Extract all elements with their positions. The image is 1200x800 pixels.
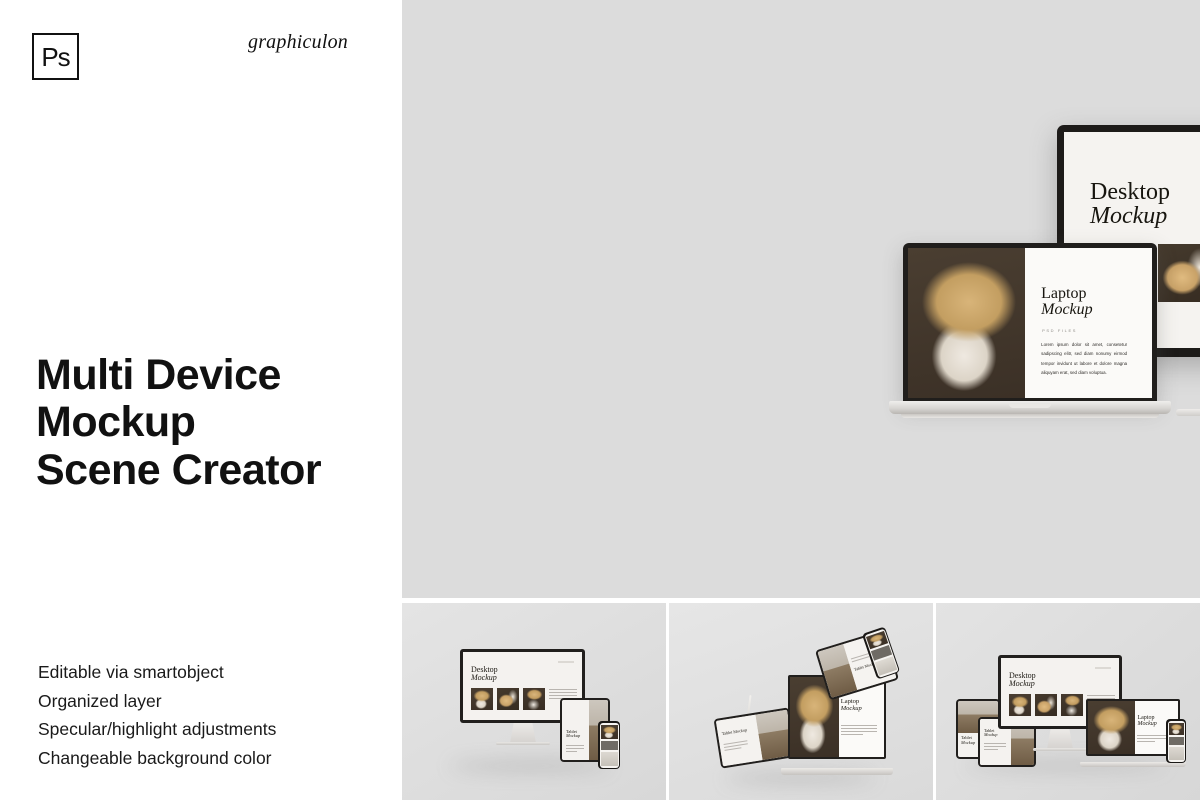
mini-tablet-heading: Tablet Mockup — [566, 730, 580, 739]
poster-canvas: Ps graphiculon Multi Device Mockup Scene… — [0, 0, 1200, 800]
mini-tablet-heading-line-2: Mockup — [566, 734, 580, 738]
monitor-stand-base — [1176, 409, 1200, 416]
laptop-psd-label: PSD FILES — [1042, 328, 1077, 333]
mini-psd-label — [1095, 667, 1111, 669]
mini-thumbnail — [497, 688, 519, 710]
photoshop-logo-text: Ps — [41, 44, 69, 70]
panel-floating-devices: Tablet Mockup Laptop Mockup — [669, 603, 933, 800]
laptop-photo — [908, 248, 1030, 398]
panel-desktop-tablet-phone: Desktop Mockup — [402, 603, 666, 800]
mini-laptop-screen: Laptop Mockup — [1088, 701, 1177, 754]
mini-tablet-body — [566, 745, 584, 754]
laptop-body-text: Lorem ipsum dolor sit amet, consetetur s… — [1041, 340, 1127, 377]
laptop-notch — [1009, 404, 1051, 408]
mini-desktop-heading: Desktop Mockup — [1009, 672, 1036, 688]
mini-tablet-heading: Tablet Mockup — [961, 736, 975, 745]
feature-item: Specular/highlight adjustments — [38, 715, 388, 744]
mini-tablet-heading-line-2: Mockup — [984, 733, 998, 737]
laptop-screen: Laptop Mockup PSD FILES Lorem ipsum dolo… — [908, 248, 1152, 398]
mini-tablet-heading: Tablet Mockup — [984, 729, 998, 737]
page-title-line-2: Mockup — [36, 399, 386, 446]
mini-laptop-heading: Laptop Mockup — [1137, 715, 1156, 727]
hero-mockup-scene: PSD FILES Desktop Mockup Lorem ipsum dol… — [402, 0, 1200, 598]
mini-desktop-heading-line-2: Mockup — [471, 674, 498, 682]
laptop-foot — [901, 414, 1159, 418]
mini-phone — [598, 721, 620, 769]
mini-laptop-base — [781, 768, 893, 775]
mini-tablet-heading-line-2: Mockup — [961, 741, 975, 745]
hero-laptop: Laptop Mockup PSD FILES Lorem ipsum dolo… — [889, 243, 1171, 423]
mini-thumbnail-row — [1009, 694, 1083, 716]
brand-name: graphiculon — [248, 31, 348, 54]
laptop-heading: Laptop Mockup — [1041, 286, 1093, 319]
mini-tablet-body — [984, 743, 1006, 752]
laptop-heading-line-1: Laptop — [1041, 286, 1093, 302]
mini-thumbnail — [523, 688, 545, 710]
panel-device-lineup: Tablet Mockup Tablet Mockup — [936, 603, 1200, 800]
desktop-heading-line-2: Mockup — [1090, 204, 1170, 228]
page-title-line-1: Multi Device — [36, 352, 386, 399]
feature-item: Changeable background color — [38, 744, 388, 773]
bottom-panel-row: Desktop Mockup — [402, 603, 1200, 800]
mini-phone — [1166, 719, 1186, 763]
mini-laptop-heading-line-2: Mockup — [841, 706, 879, 713]
mini-desktop-heading: Desktop Mockup — [471, 666, 498, 682]
laptop-heading-line-2: Mockup — [1041, 302, 1093, 318]
mini-desktop-heading-line-2: Mockup — [1009, 680, 1036, 688]
left-info-column: Ps graphiculon Multi Device Mockup Scene… — [0, 0, 400, 800]
feature-list: Editable via smartobject Organized layer… — [38, 658, 388, 773]
mini-laptop-body — [841, 725, 877, 737]
mini-thumbnail — [1009, 694, 1031, 716]
photoshop-logo-icon: Ps — [32, 33, 79, 80]
mini-laptop-heading: Laptop Mockup — [841, 699, 879, 712]
mini-thumbnail — [471, 688, 493, 710]
laptop-lid: Laptop Mockup PSD FILES Lorem ipsum dolo… — [903, 243, 1157, 403]
mini-thumbnail — [1035, 694, 1057, 716]
mini-laptop-body — [1137, 735, 1167, 744]
mini-phone-screen — [1168, 721, 1185, 762]
desktop-heading: Desktop Mockup — [1090, 180, 1170, 229]
feature-item: Organized layer — [38, 687, 388, 716]
page-title-line-3: Scene Creator — [36, 447, 386, 494]
laptop-text-panel: Laptop Mockup PSD FILES Lorem ipsum dolo… — [1025, 248, 1152, 398]
desktop-heading-line-1: Desktop — [1090, 180, 1170, 204]
mini-thumbnail-row — [471, 688, 545, 710]
mini-psd-label — [558, 661, 574, 663]
feature-item: Editable via smartobject — [38, 658, 388, 687]
mini-laptop-heading-line-2: Mockup — [1137, 721, 1156, 727]
page-title: Multi Device Mockup Scene Creator — [36, 352, 386, 494]
mini-phone-screen — [600, 723, 619, 768]
